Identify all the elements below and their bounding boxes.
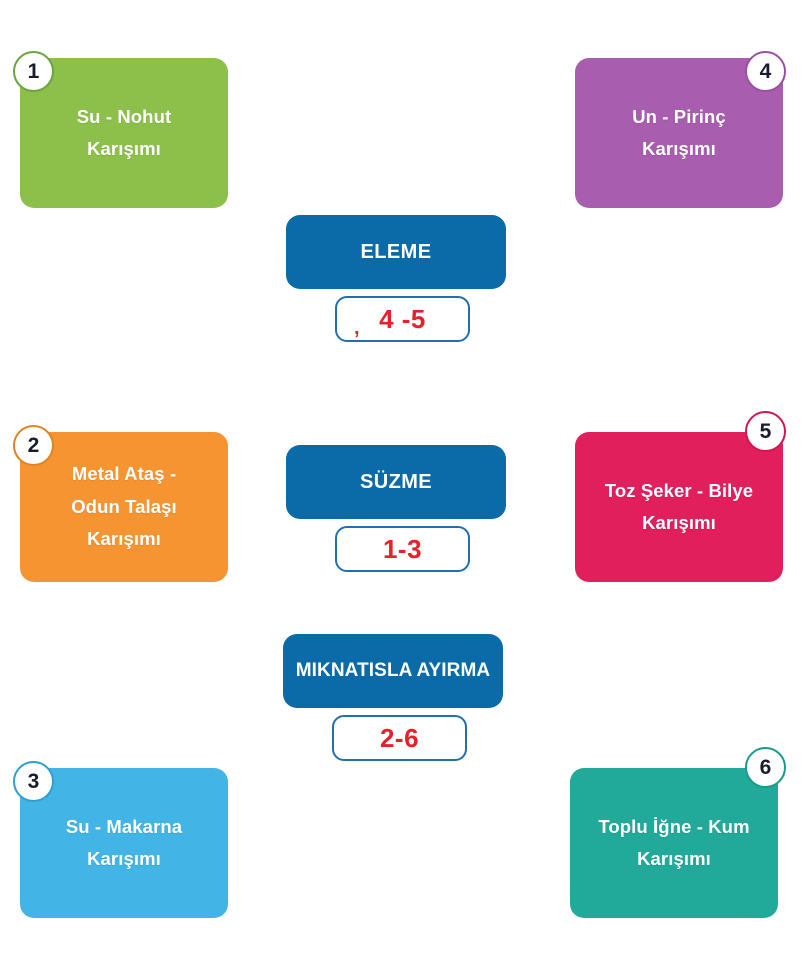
mixture-card-4-label: Un - PirinçKarışımı — [632, 101, 726, 165]
answer-box-miknatisla-ayirma[interactable]: 2-6 — [332, 715, 467, 761]
answer-text-eleme: 4 -5 — [379, 306, 426, 332]
mixture-card-1-number-badge: 1 — [13, 51, 54, 92]
method-block-miknatisla-ayirma: MIKNATISLA AYIRMA 2-6 — [283, 634, 503, 761]
answer-text-miknatisla-ayirma: 2-6 — [380, 725, 419, 751]
mixture-card-5-number-badge: 5 — [745, 411, 786, 452]
mixture-card-6[interactable]: Toplu İğne - KumKarışımı — [570, 768, 778, 918]
mixture-card-1-label: Su - NohutKarışımı — [77, 101, 172, 165]
mixture-card-2-label: Metal Ataş -Odun TalaşıKarışımı — [71, 458, 177, 557]
method-block-suzme: SÜZME 1-3 — [286, 445, 506, 572]
method-button-eleme[interactable]: ELEME — [286, 215, 506, 289]
mixture-card-3-label: Su - MakarnaKarışımı — [66, 811, 182, 875]
mixture-card-5-label: Toz Şeker - BilyeKarışımı — [605, 475, 753, 539]
method-block-eleme: ELEME , 4 -5 — [286, 215, 506, 342]
mixture-card-6-label: Toplu İğne - KumKarışımı — [598, 811, 749, 875]
method-button-suzme-label: SÜZME — [360, 471, 432, 494]
answer-box-eleme[interactable]: , 4 -5 — [335, 296, 470, 342]
method-button-suzme[interactable]: SÜZME — [286, 445, 506, 519]
method-button-miknatisla-ayirma-label: MIKNATISLA AYIRMA — [296, 660, 491, 682]
method-button-eleme-label: ELEME — [361, 241, 432, 264]
mixture-card-3-number-badge: 3 — [13, 761, 54, 802]
mixture-card-6-number-badge: 6 — [745, 747, 786, 788]
mixture-card-2-number-badge: 2 — [13, 425, 54, 466]
answer-box-suzme[interactable]: 1-3 — [335, 526, 470, 572]
mixture-card-4-number-badge: 4 — [745, 51, 786, 92]
diagram-canvas: Su - NohutKarışımı 1 Metal Ataş -Odun Ta… — [0, 0, 802, 960]
mixture-card-5[interactable]: Toz Şeker - BilyeKarışımı — [575, 432, 783, 582]
answer-stray-mark-eleme: , — [354, 318, 360, 338]
answer-text-suzme: 1-3 — [383, 536, 422, 562]
method-button-miknatisla-ayirma[interactable]: MIKNATISLA AYIRMA — [283, 634, 503, 708]
